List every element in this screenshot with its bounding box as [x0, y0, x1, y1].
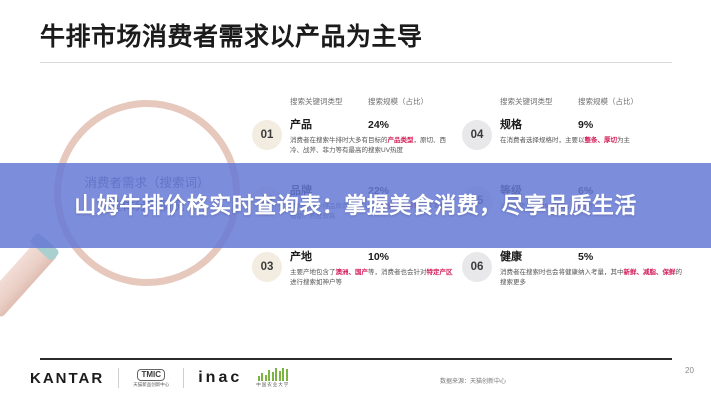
desc-highlight: 新鲜、减脂、保鲜	[624, 269, 676, 276]
header-keyword-type: 搜索关键词类型	[290, 96, 368, 107]
overlay-banner: 山姆牛排价格实时查询表：掌握美食消费，尽享品质生活	[0, 163, 711, 248]
kantar-logo: KANTAR	[30, 370, 104, 387]
bars-logo: 中国农业大学	[256, 368, 289, 388]
header-search-scale: 搜索规模（占比）	[578, 96, 638, 107]
tmic-mark-icon: TMIC	[137, 369, 165, 381]
header-keyword-type: 搜索关键词类型	[500, 96, 578, 107]
row-description: 消费者在搜索时也会将健康纳入考量，其中新鲜、减脂、保鲜的搜索更多	[500, 268, 686, 288]
right-column-header: 搜索关键词类型 搜索规模（占比）	[462, 96, 677, 107]
row-percent: 9%	[578, 119, 593, 131]
header-search-scale: 搜索规模（占比）	[368, 96, 428, 107]
footer-divider	[40, 358, 672, 360]
row-heading: 产品 24%	[290, 116, 457, 132]
desc-prefix: 消费者在搜索时也会将健康纳入考量，其中	[500, 269, 624, 276]
row-keyword: 产品	[290, 116, 368, 132]
desc-suffix: 等，消费者也会针对	[368, 269, 427, 276]
desc-highlight: 整条、厚切	[585, 137, 618, 144]
row-keyword: 规格	[500, 116, 578, 132]
logo-separator	[118, 368, 119, 388]
desc-prefix: 在消费者选择规格时，主要以	[500, 137, 585, 144]
logo-separator	[183, 368, 184, 388]
row-keyword: 健康	[500, 248, 578, 264]
row-index-badge: 03	[252, 252, 282, 282]
row-percent: 24%	[368, 119, 389, 131]
row-description: 消费者在搜索牛排时大多有目标的产品类型，原切、西冷、战斧、菲力等有最高的搜索UV…	[290, 136, 458, 156]
slide-canvas: 牛排市场消费者需求以产品为主导 消费者需求（搜索词） 整体分布情况 搜索关键词类…	[0, 0, 711, 400]
row-keyword: 产地	[290, 248, 368, 264]
table-row: 03 产地 10% 主要产地包含了澳洲、国产等，消费者也会针对特定产区进行搜索如…	[252, 248, 457, 314]
footer-logos: KANTAR TMIC 天猫新品创新中心 inac 中国农业大学	[30, 368, 289, 388]
bars-subtitle: 中国农业大学	[256, 382, 289, 388]
row-percent: 5%	[578, 251, 593, 263]
row-description: 在消费者选择规格时，主要以整条、厚切为主	[500, 136, 686, 146]
row-heading: 规格 9%	[500, 116, 677, 132]
row-percent: 10%	[368, 251, 389, 263]
row-heading: 健康 5%	[500, 248, 677, 264]
row-index-badge: 01	[252, 120, 282, 150]
page-title-wrap: 牛排市场消费者需求以产品为主导	[40, 24, 670, 52]
desc-highlight: 澳洲、国产	[336, 269, 369, 276]
row-index-badge: 04	[462, 120, 492, 150]
desc-highlight-2: 特定产区	[427, 269, 453, 276]
row-description: 主要产地包含了澳洲、国产等，消费者也会针对特定产区进行搜索如神户等	[290, 268, 458, 288]
title-divider	[40, 62, 672, 63]
inac-logo: inac	[198, 369, 242, 387]
tmic-logo: TMIC 天猫新品创新中心	[133, 369, 169, 388]
desc-prefix: 消费者在搜索牛排时大多有目标的	[290, 137, 388, 144]
overlay-title: 山姆牛排价格实时查询表：掌握美食消费，尽享品质生活	[36, 191, 676, 220]
desc-prefix: 主要产地包含了	[290, 269, 336, 276]
row-heading: 产地 10%	[290, 248, 457, 264]
desc-suffix: 为主	[617, 137, 630, 144]
bars-icon	[258, 368, 288, 381]
tmic-subtitle: 天猫新品创新中心	[133, 382, 169, 388]
desc-suffix-2: 进行搜索如神户等	[290, 279, 342, 286]
left-column-header: 搜索关键词类型 搜索规模（占比）	[252, 96, 457, 107]
desc-highlight: 产品类型	[388, 137, 414, 144]
table-row: 06 健康 5% 消费者在搜索时也会将健康纳入考量，其中新鲜、减脂、保鲜的搜索更…	[462, 248, 677, 314]
row-index-badge: 06	[462, 252, 492, 282]
page-number: 20	[685, 366, 694, 375]
source-note: 数据来源：天猫创新中心	[440, 376, 506, 385]
page-title: 牛排市场消费者需求以产品为主导	[40, 24, 670, 52]
